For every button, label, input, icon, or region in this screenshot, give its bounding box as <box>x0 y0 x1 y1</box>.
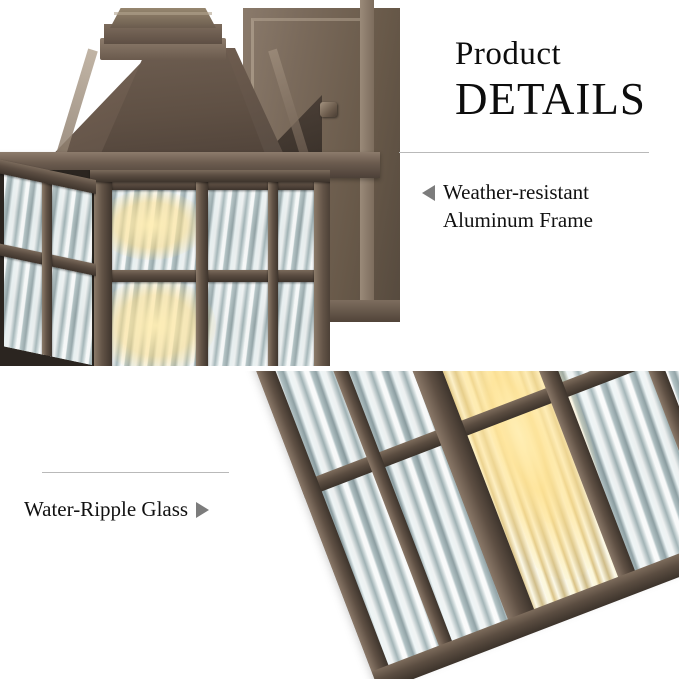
water-ripple-glass-closeup-photo <box>228 371 679 679</box>
mullion-vertical <box>268 180 278 366</box>
callout-weather-resistant-aluminum-frame: Weather-resistant Aluminum Frame <box>422 178 662 235</box>
title-line-1: Product <box>455 38 675 71</box>
glass-pane <box>108 280 200 366</box>
divider-bottom <box>42 472 229 473</box>
glass-pane <box>108 188 200 272</box>
callout-line-2: Aluminum Frame <box>443 206 662 234</box>
mullion-vertical <box>196 180 208 366</box>
finial-highlight <box>114 12 212 15</box>
lantern-frame <box>234 371 679 679</box>
callout-line-1: Weather-resistant <box>443 180 589 204</box>
page-title: Product DETAILS <box>455 38 675 122</box>
lantern-head-photo <box>0 0 400 366</box>
divider-top <box>399 152 649 153</box>
finial-cap <box>110 8 216 28</box>
frame-top-rail <box>90 170 330 182</box>
glass-pane <box>50 182 92 265</box>
lantern-side-panel <box>0 156 96 366</box>
left-triangle-icon <box>422 185 435 201</box>
glass-pane <box>50 264 92 365</box>
callout-line-1: Water-Ripple Glass <box>24 497 188 521</box>
mullion-horizontal <box>100 270 330 282</box>
hex-bolt <box>320 102 337 117</box>
frame-right-post <box>314 170 330 366</box>
frame-corner-post <box>94 170 112 366</box>
tilted-lantern-closeup <box>234 371 679 679</box>
glass-pane <box>4 172 44 255</box>
callout-water-ripple-glass: Water-Ripple Glass <box>24 497 209 522</box>
product-details-image: Product DETAILS Weather-resistant Alumin… <box>0 0 679 679</box>
right-triangle-icon <box>196 502 209 518</box>
title-line-2: DETAILS <box>455 77 675 122</box>
glass-pane <box>4 254 44 355</box>
mullion-vertical <box>42 171 52 357</box>
